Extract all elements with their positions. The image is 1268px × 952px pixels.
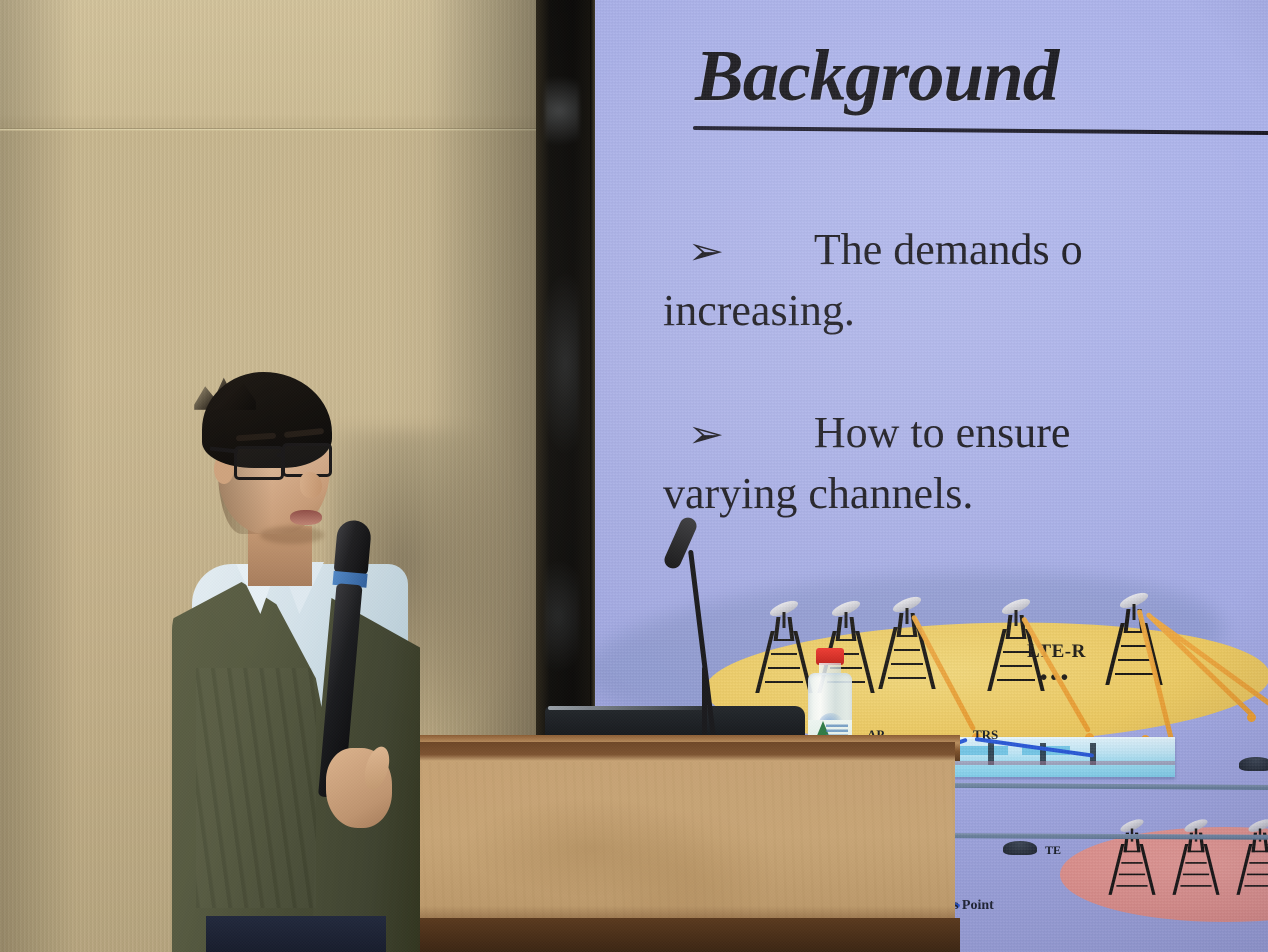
bullet-2-line-1: ➢How to ensure bbox=[690, 407, 1070, 459]
mouth bbox=[290, 510, 322, 525]
bullet-marker-icon: ➢ bbox=[688, 412, 725, 457]
bullet-1-text-a: The demands o bbox=[814, 225, 1083, 274]
chin-shadow bbox=[260, 526, 324, 544]
nose bbox=[300, 472, 322, 498]
bullet-2-text-a: How to ensure bbox=[814, 408, 1071, 457]
microphone-grille bbox=[334, 519, 373, 576]
cell-tower-icon bbox=[1172, 821, 1220, 895]
cell-tower-icon bbox=[1108, 821, 1156, 895]
terminal-equipment-icon bbox=[1003, 841, 1037, 855]
gooseneck-microphone bbox=[676, 516, 786, 748]
bullet-1-line-1: ➢The demands o bbox=[690, 224, 1083, 276]
bottle-label-text bbox=[826, 723, 848, 737]
terminal-equipment-icon bbox=[1239, 757, 1268, 771]
beam-endpoint bbox=[1247, 713, 1256, 722]
eyeglasses-bridge bbox=[277, 453, 285, 457]
te-label: TE bbox=[1045, 843, 1061, 858]
cell-tower-icon bbox=[1236, 821, 1268, 895]
bullet-1-line-2: increasing. bbox=[663, 285, 855, 337]
slide-title: Background bbox=[695, 34, 1058, 118]
title-underline bbox=[693, 126, 1268, 135]
trousers bbox=[206, 916, 386, 952]
speaker bbox=[140, 368, 420, 952]
gap-reflection bbox=[545, 0, 579, 790]
bullet-marker-icon: ➢ bbox=[688, 229, 725, 274]
eyeglasses-left-lens bbox=[234, 446, 284, 480]
bullet-2-line-2: varying channels. bbox=[663, 468, 973, 520]
presentation-photo: Background ➢The demands o increasing. ➢H… bbox=[0, 0, 1268, 952]
